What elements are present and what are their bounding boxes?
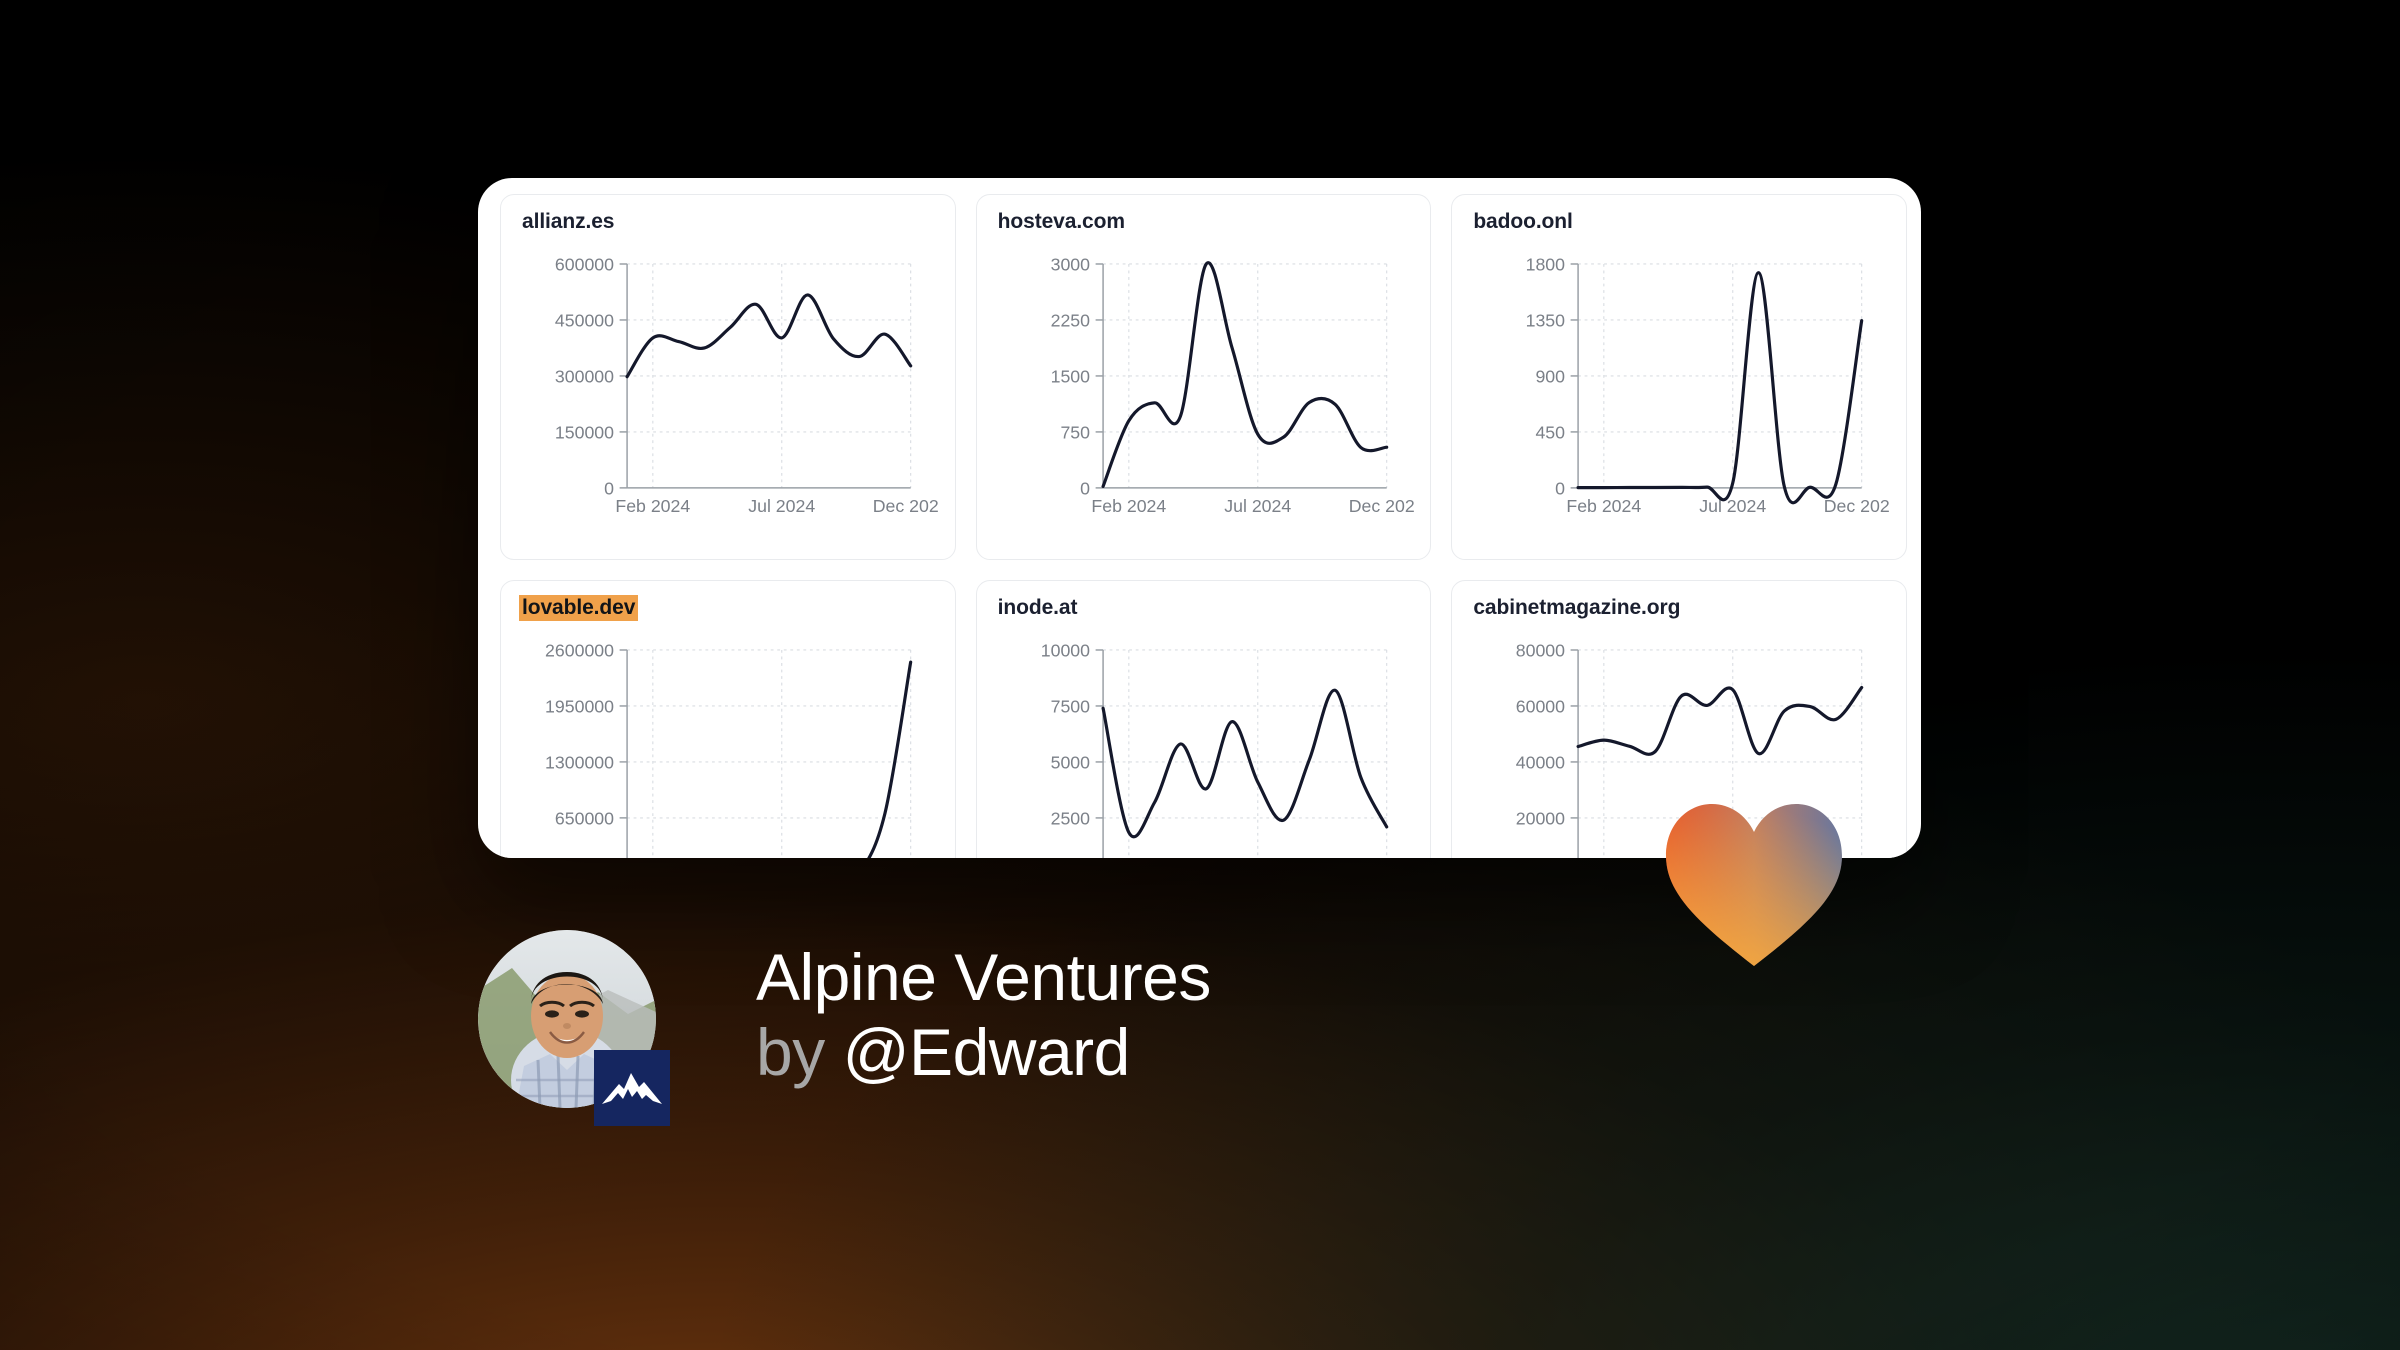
- footer-identity: Alpine Ventures by @Edward: [478, 930, 1211, 1108]
- chart-card[interactable]: badoo.onl045090013501800Feb 2024Jul 2024…: [1451, 194, 1907, 560]
- line-chart: 0750150022503000Feb 2024Jul 2024Dec 2024: [993, 239, 1415, 539]
- badge-mountain: [594, 1050, 670, 1126]
- svg-text:Jul 2024: Jul 2024: [1700, 496, 1767, 516]
- chart-title: allianz.es: [519, 209, 617, 235]
- svg-text:1300000: 1300000: [545, 752, 614, 772]
- chart-title: lovable.dev: [519, 595, 638, 621]
- chart-title: inode.at: [995, 595, 1081, 621]
- svg-text:5000: 5000: [1050, 752, 1090, 772]
- line-chart: 650000130000019500002600000Feb 2024Jul 2…: [517, 625, 939, 858]
- chart-grid: allianz.es0150000300000450000600000Feb 2…: [478, 178, 1921, 858]
- svg-text:2600000: 2600000: [545, 641, 614, 661]
- svg-text:Dec 2024: Dec 2024: [1348, 496, 1414, 516]
- svg-text:Feb 2024: Feb 2024: [615, 496, 690, 516]
- svg-text:10000: 10000: [1040, 641, 1089, 661]
- handle: @Edward: [843, 1015, 1130, 1089]
- svg-text:150000: 150000: [555, 422, 614, 442]
- svg-text:0: 0: [1555, 478, 1565, 498]
- svg-text:Dec 2024: Dec 2024: [1824, 496, 1890, 516]
- svg-text:1500: 1500: [1050, 366, 1090, 386]
- titles: Alpine Ventures by @Edward: [756, 944, 1211, 1094]
- svg-text:750: 750: [1060, 422, 1090, 442]
- by-label: by: [756, 1015, 825, 1089]
- svg-text:450000: 450000: [555, 310, 614, 330]
- svg-text:60000: 60000: [1516, 696, 1565, 716]
- svg-text:3000: 3000: [1050, 255, 1090, 275]
- svg-text:Dec 2024: Dec 2024: [873, 496, 939, 516]
- avatar-wrap: [478, 930, 656, 1108]
- mountain-icon: [601, 1068, 663, 1108]
- line-chart: 045090013501800Feb 2024Jul 2024Dec 2024: [1468, 239, 1890, 539]
- svg-text:Jul 2024: Jul 2024: [1224, 496, 1291, 516]
- svg-text:450: 450: [1536, 422, 1566, 442]
- svg-text:40000: 40000: [1516, 752, 1565, 772]
- svg-text:1800: 1800: [1526, 255, 1566, 275]
- svg-text:Feb 2024: Feb 2024: [1567, 496, 1642, 516]
- svg-text:7500: 7500: [1050, 696, 1090, 716]
- byline: by @Edward: [756, 1010, 1211, 1094]
- chart-card[interactable]: lovable.dev650000130000019500002600000Fe…: [500, 580, 956, 858]
- svg-text:20000: 20000: [1516, 808, 1565, 828]
- svg-text:2250: 2250: [1050, 310, 1090, 330]
- chart-card[interactable]: allianz.es0150000300000450000600000Feb 2…: [500, 194, 956, 560]
- svg-text:Jul 2024: Jul 2024: [748, 496, 815, 516]
- chart-card[interactable]: hosteva.com0750150022503000Feb 2024Jul 2…: [976, 194, 1432, 560]
- svg-text:600000: 600000: [555, 255, 614, 275]
- heart-icon: [1664, 798, 1844, 968]
- chart-card[interactable]: inode.at25005000750010000Feb 2024Jul 202…: [976, 580, 1432, 858]
- svg-text:Feb 2024: Feb 2024: [1091, 496, 1166, 516]
- svg-text:80000: 80000: [1516, 641, 1565, 661]
- chart-title: badoo.onl: [1470, 209, 1575, 235]
- svg-text:0: 0: [1080, 478, 1090, 498]
- svg-text:2500: 2500: [1050, 808, 1090, 828]
- page-title: Alpine Ventures: [756, 944, 1211, 1010]
- chart-title: cabinetmagazine.org: [1470, 595, 1683, 621]
- chart-title: hosteva.com: [995, 209, 1128, 235]
- dashboard-panel: allianz.es0150000300000450000600000Feb 2…: [478, 178, 1921, 858]
- svg-text:650000: 650000: [555, 808, 614, 828]
- line-chart: 25005000750010000Feb 2024Jul 2024Dec 202…: [993, 625, 1415, 858]
- svg-text:0: 0: [604, 478, 614, 498]
- line-chart: 0150000300000450000600000Feb 2024Jul 202…: [517, 239, 939, 539]
- svg-text:1950000: 1950000: [545, 696, 614, 716]
- svg-text:300000: 300000: [555, 366, 614, 386]
- svg-text:900: 900: [1536, 366, 1566, 386]
- svg-text:1350: 1350: [1526, 310, 1566, 330]
